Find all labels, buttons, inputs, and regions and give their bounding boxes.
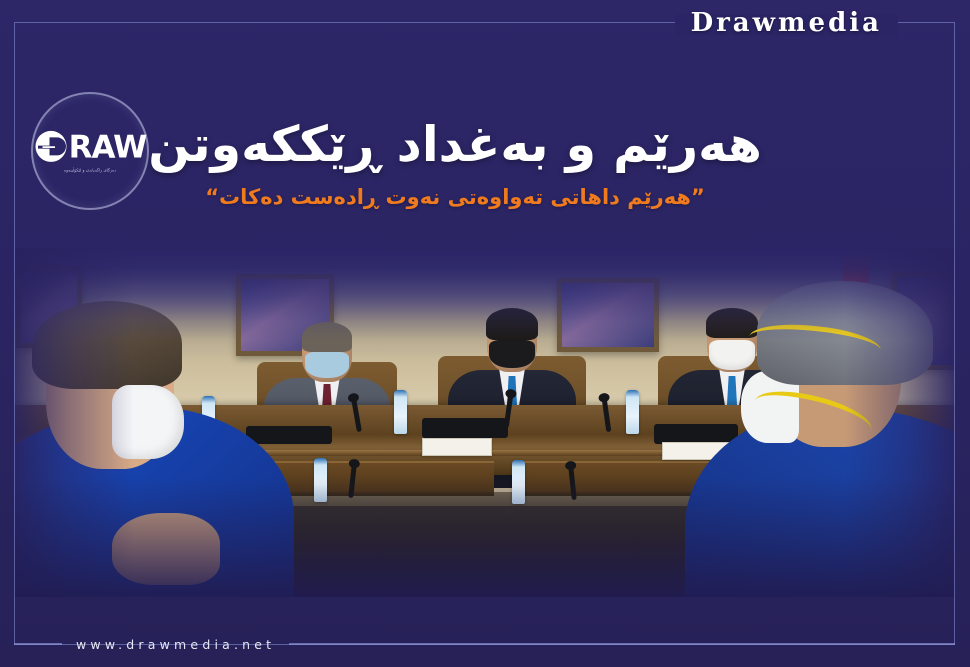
face-mask [305,352,349,378]
strip-rule-left [14,643,62,645]
face-mask [489,340,535,368]
news-card: Drawmedia RAW دەزگای راگەیاندن و لێکۆڵین… [0,0,970,667]
name-plate [422,438,492,456]
photo-fade-bottom [14,477,955,597]
website-strip: www.drawmedia.net [14,635,955,653]
page-subtitle: ”هەرێم داهاتی تەواوەتی نەوت ڕادەست دەکات… [0,185,970,210]
water-bottle [394,390,407,434]
meeting-photo [14,248,955,597]
water-bottle [626,390,639,434]
photo-fade-top [14,248,955,340]
photo-scene [14,248,955,597]
page-title: هەرێم و بەغداد ڕێککەوتن [0,118,970,173]
headline-block: هەرێم و بەغداد ڕێککەوتن ”هەرێم داهاتی تە… [0,118,970,210]
strip-rule-right [289,643,955,645]
website-url[interactable]: www.drawmedia.net [76,637,275,652]
brand-wordmark: Drawmedia [691,8,882,38]
laptop [422,418,508,438]
